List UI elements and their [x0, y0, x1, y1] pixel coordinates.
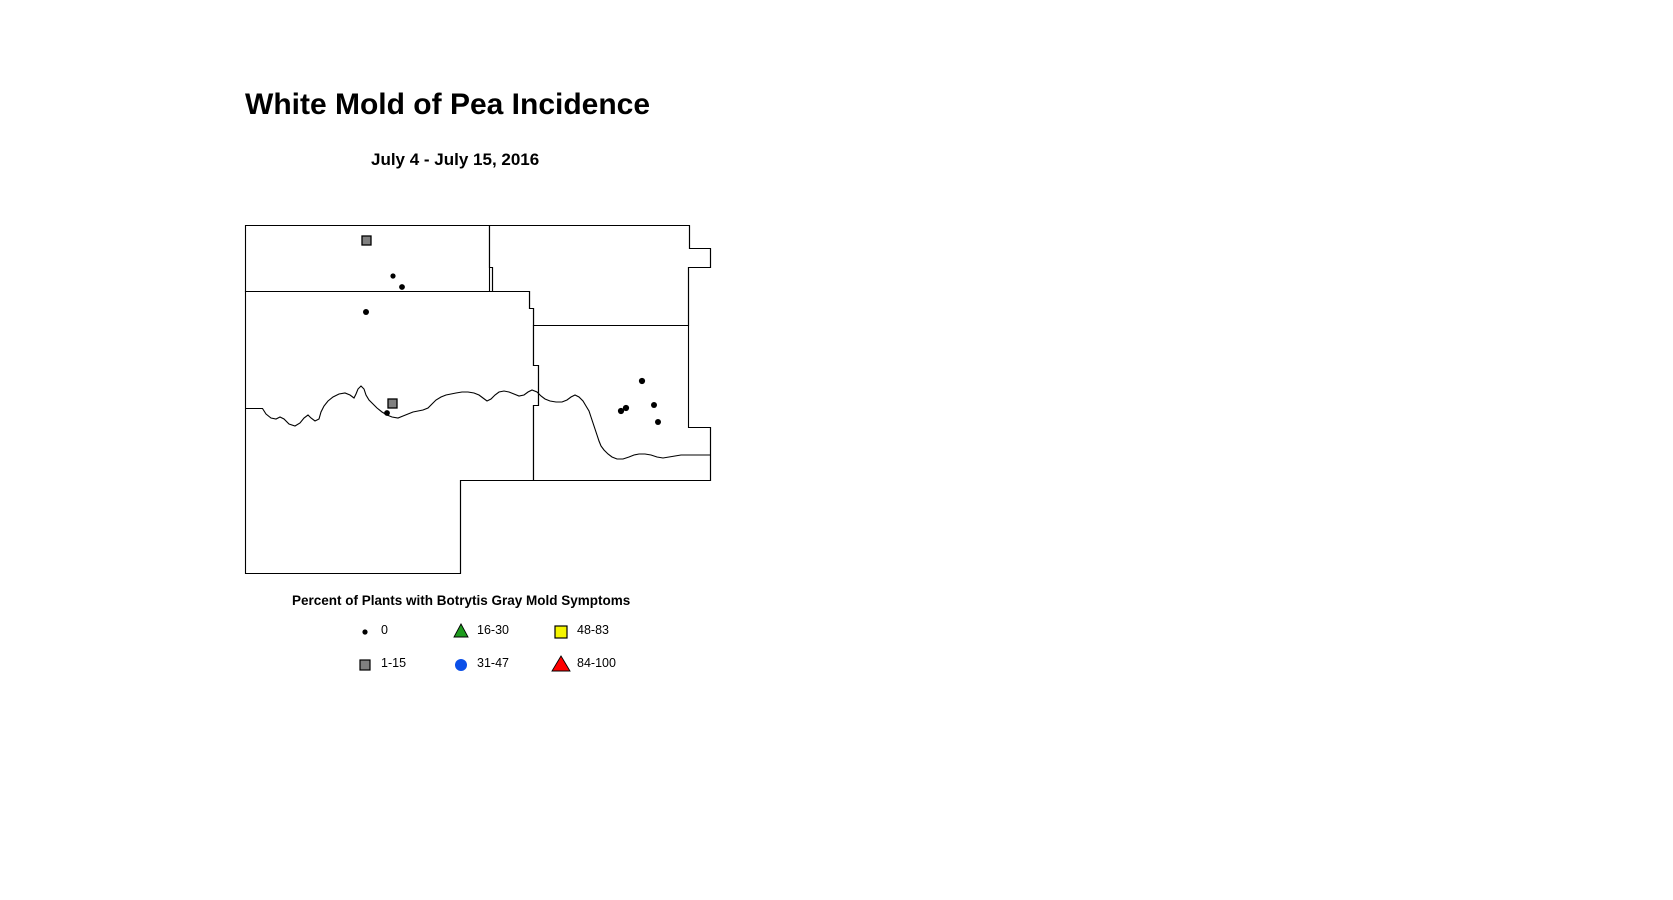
yellow-square-icon	[551, 618, 577, 644]
data-point	[362, 236, 371, 245]
legend-label: 48-83	[577, 623, 609, 637]
county-west-central	[246, 292, 539, 574]
green-triangle-icon	[451, 618, 477, 644]
data-point	[384, 410, 390, 416]
date-range-subtitle: July 4 - July 15, 2016	[371, 150, 539, 170]
gray-square-icon	[355, 651, 381, 677]
blue-circle-icon	[451, 651, 477, 677]
map-figure: White Mold of Pea Incidence July 4 - Jul…	[0, 0, 1673, 900]
legend-row: 1-15 31-47 84-100	[355, 651, 685, 681]
county-se	[534, 326, 711, 481]
data-point	[655, 419, 661, 425]
boundary-ne-east-step	[689, 226, 711, 326]
boundary-south-step	[461, 481, 534, 574]
data-point	[399, 284, 405, 290]
data-point	[651, 402, 657, 408]
data-point	[618, 408, 624, 414]
map-canvas[interactable]	[240, 205, 740, 595]
legend-label: 1-15	[381, 656, 406, 670]
legend-label: 16-30	[477, 623, 509, 637]
page-title: White Mold of Pea Incidence	[245, 88, 650, 122]
legend-label: 0	[381, 623, 388, 637]
legend-label: 31-47	[477, 656, 509, 670]
data-point	[388, 399, 397, 408]
data-point	[639, 378, 645, 384]
data-point	[390, 273, 395, 278]
legend-row: 0 16-30 48-83	[355, 618, 685, 648]
legend-label: 84-100	[577, 656, 616, 670]
county-boundaries	[246, 226, 711, 574]
red-triangle-icon	[551, 651, 577, 677]
legend: 0 16-30 48-83 1-15	[355, 618, 685, 688]
legend-title: Percent of Plants with Botrytis Gray Mol…	[292, 593, 630, 608]
data-point	[363, 309, 369, 315]
small-dot-icon	[355, 618, 381, 644]
